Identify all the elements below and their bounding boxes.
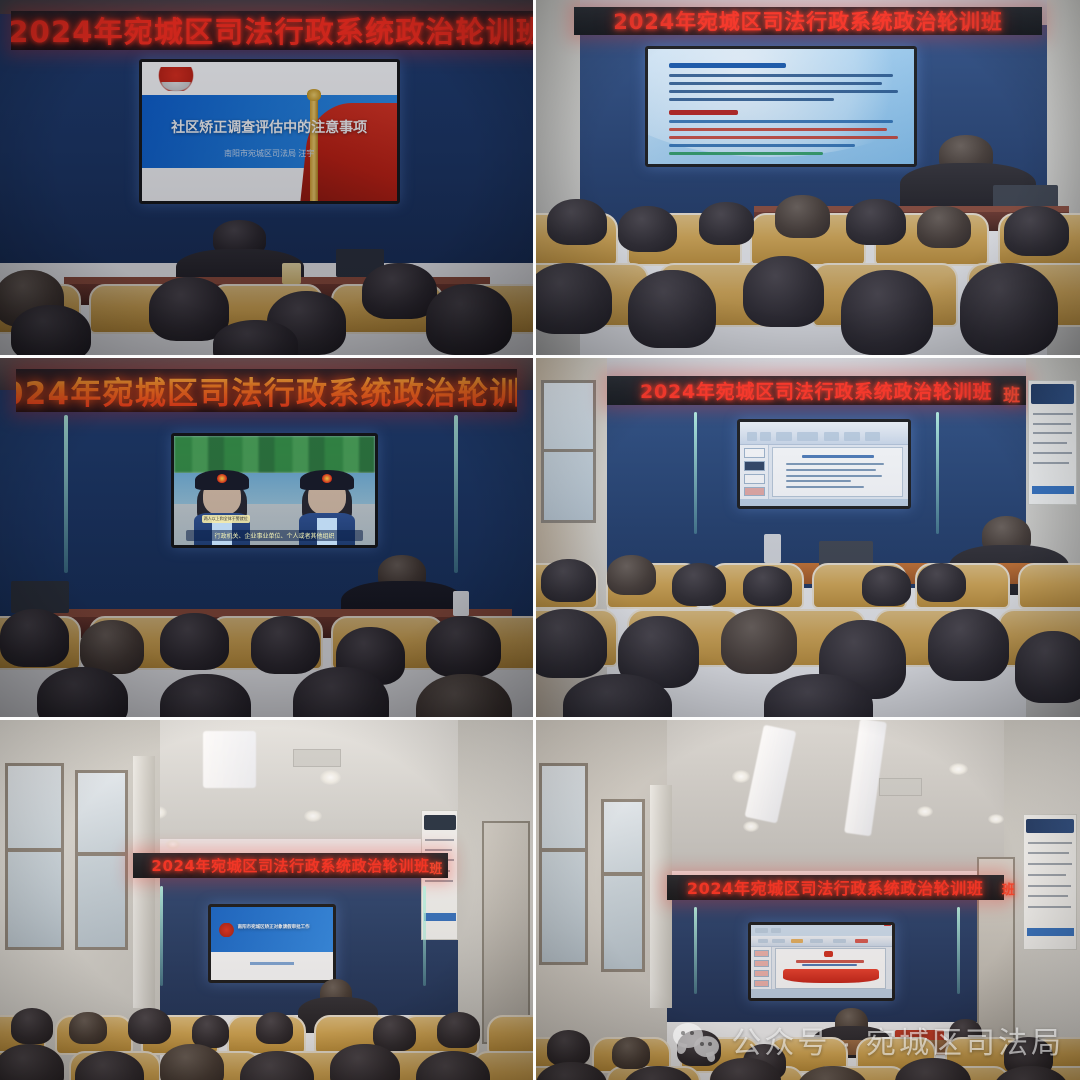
led-banner: 2024年宛城区司法行政系统政治轮训班 <box>16 369 517 412</box>
audience-head <box>416 674 512 720</box>
audience-head <box>677 1030 721 1066</box>
window <box>601 799 645 972</box>
led-banner: 2024年宛城区司法行政系统政治轮训班 <box>607 376 1026 405</box>
window <box>75 770 128 950</box>
audience-head <box>80 620 144 674</box>
collage-panel-top-left: 2024年宛城区司法行政系统政治轮训班 社区矫正调查评估中的注意事项 南阳市宛城… <box>0 0 536 358</box>
window <box>5 763 64 950</box>
led-banner-text: 2024年宛城区司法行政系统政治轮训班 <box>11 11 536 50</box>
photo-collage: 2024年宛城区司法行政系统政治轮训班 社区矫正调查评估中的注意事项 南阳市宛城… <box>0 0 1080 1080</box>
laptop <box>11 581 70 613</box>
audience-head <box>841 270 933 355</box>
collage-panel-middle-left: 2024年宛城区司法行政系统政治轮训班 两人以上和全体干警就位 行政机 <box>0 358 536 720</box>
led-banner: 2024年宛城区司法行政系统政治轮训班 <box>11 11 536 50</box>
led-banner: 2024年宛城区司法行政系统政治轮训班 <box>133 853 447 878</box>
window <box>541 380 595 524</box>
collage-panel-bottom-left: 2024年宛城区司法行政系统政治轮训班 班 南阳市宛城区矫正对象请假审批工作 <box>0 720 536 1080</box>
powerpoint-window <box>751 925 892 998</box>
national-emblem-icon <box>219 923 234 938</box>
audience-head <box>1004 206 1069 256</box>
led-banner-tail: 班 <box>1003 381 1020 406</box>
audience-head <box>846 199 906 245</box>
powerpoint-window <box>740 422 908 506</box>
audience-head <box>607 555 656 594</box>
audience-head <box>426 616 501 677</box>
slide-thumbnail-pane[interactable] <box>740 445 769 499</box>
audience-head <box>928 609 1010 681</box>
door <box>482 821 530 1044</box>
audience-head <box>149 277 229 341</box>
audience-head <box>37 667 128 720</box>
led-banner-text: 2024年宛城区司法行政系统政治轮训班 <box>687 875 984 899</box>
audience-head <box>160 613 229 670</box>
led-banner-tail: 班 <box>1002 879 1015 898</box>
presentation-screen <box>645 46 917 167</box>
audience-head <box>612 1037 650 1069</box>
audience-head <box>536 263 612 334</box>
led-banner-text: 2024年宛城区司法行政系统政治轮训班 <box>613 7 1002 35</box>
audience-head <box>721 609 797 674</box>
audience-head <box>536 609 607 677</box>
audience-head <box>256 1012 293 1044</box>
audience-head <box>672 563 726 606</box>
audience-head <box>547 1030 591 1066</box>
audience-head <box>69 1012 106 1044</box>
status-bar <box>740 499 908 506</box>
audience-head <box>547 199 607 245</box>
slide-canvas[interactable] <box>775 948 886 989</box>
emblem-icon <box>824 951 833 956</box>
audience-head <box>0 609 69 666</box>
presentation-screen: 南阳市宛城区矫正对象请假审批工作 <box>208 904 336 983</box>
seat <box>1018 563 1080 610</box>
audience-head <box>628 270 715 348</box>
national-emblem-icon <box>154 67 197 91</box>
status-bar <box>751 989 892 998</box>
slide-canvas[interactable] <box>772 447 903 496</box>
audience-head <box>917 563 966 602</box>
slide-title: 社区矫正调查评估中的注意事项 <box>157 117 382 137</box>
led-banner-text: 2024年宛城区司法行政系统政治轮训班 <box>151 855 429 876</box>
audience-head <box>251 616 320 673</box>
audience-head <box>128 1008 171 1044</box>
audience-head <box>160 674 251 720</box>
audience-head <box>917 206 971 249</box>
led-banner-text: 2024年宛城区司法行政系统政治轮训班 <box>16 369 517 412</box>
led-banner: 2024年宛城区司法行政系统政治轮训班 <box>574 7 1042 35</box>
presentation-screen: 社区矫正调查评估中的注意事项 南阳市宛城区司法局 汪宇 <box>139 59 400 205</box>
wall-poster <box>1028 380 1077 506</box>
slide-subtitle: 南阳市宛城区司法局 汪宇 <box>157 148 382 159</box>
collage-panel-middle-right: 2024年宛城区司法行政系统政治轮训班 班 <box>536 358 1080 720</box>
collage-panel-top-right: 2024年宛城区司法行政系统政治轮训班 <box>536 0 1080 358</box>
audience-head <box>743 566 792 605</box>
audience-head <box>541 559 595 602</box>
led-banner: 2024年宛城区司法行政系统政治轮训班 <box>667 875 1004 900</box>
audience-head <box>426 284 511 355</box>
led-banner-tail: 班 <box>429 858 442 877</box>
audience-head <box>775 195 829 238</box>
window <box>539 763 588 965</box>
seat <box>487 1015 536 1055</box>
tea-cup <box>282 263 301 284</box>
led-banner-text: 2024年宛城区司法行政系统政治轮训班 <box>640 377 992 404</box>
audience-head <box>1015 631 1080 703</box>
audience-head <box>743 256 825 327</box>
red-chart-graphic <box>783 969 879 982</box>
presentation-screen: 两人以上和全体干警就位 行政机关、企业事业单位、个人或者其他组织 <box>171 433 379 548</box>
presentation-screen <box>748 922 895 1001</box>
video-caption: 行政机关、企业事业单位、个人或者其他组织 <box>186 530 364 541</box>
audience-head <box>960 263 1058 355</box>
close-icon[interactable] <box>884 925 891 926</box>
slide-title: 南阳市宛城区矫正对象请假审批工作 <box>238 924 328 930</box>
audience-head <box>192 1015 229 1047</box>
audience-head <box>160 1044 224 1080</box>
audience-head <box>11 1008 54 1044</box>
slide-thumbnail-pane[interactable] <box>751 947 772 992</box>
audience-head <box>11 305 91 358</box>
audience-head <box>699 202 753 245</box>
water-bottle <box>764 534 780 563</box>
video-caption-small: 两人以上和全体干警就位 <box>202 515 250 523</box>
water-bottle <box>453 591 469 616</box>
wall-poster <box>1023 814 1077 951</box>
audience-head <box>618 206 678 252</box>
presentation-screen <box>737 419 911 509</box>
collage-panel-bottom-right: 2024年宛城区司法行政系统政治轮训班 班 <box>536 720 1080 1080</box>
audience-head <box>862 566 911 605</box>
audience-head <box>437 1012 480 1048</box>
